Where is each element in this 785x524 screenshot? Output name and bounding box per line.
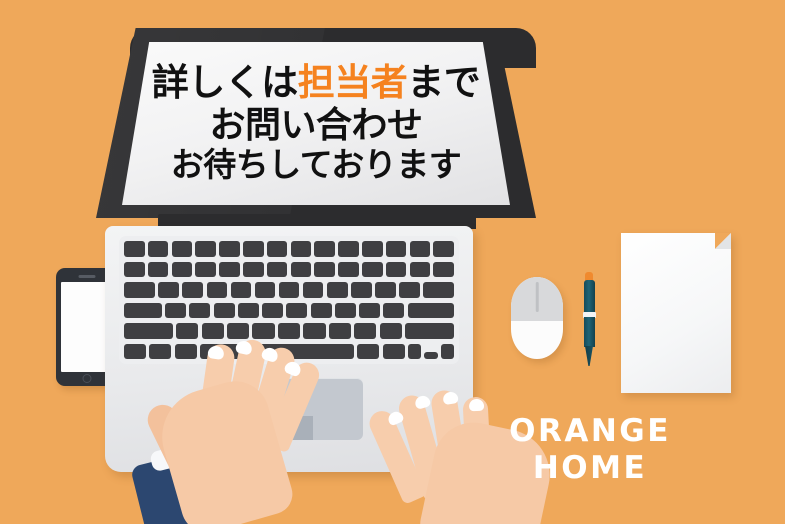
pen-tip: [585, 346, 593, 366]
headline-line-1-suffix: まで: [407, 61, 480, 104]
key[interactable]: [362, 241, 383, 257]
key[interactable]: [202, 323, 224, 339]
key[interactable]: [286, 303, 307, 319]
key[interactable]: [252, 323, 274, 339]
key[interactable]: [243, 262, 264, 278]
key[interactable]: [380, 323, 402, 339]
key[interactable]: [386, 262, 407, 278]
banner-canvas: 詳しくは担当者まで お問い合わせ お待ちしております: [0, 0, 785, 524]
key[interactable]: [278, 323, 300, 339]
key-arrow-up[interactable]: [424, 352, 437, 359]
paper-sheet: [621, 233, 731, 393]
key[interactable]: [195, 262, 216, 278]
key[interactable]: [267, 241, 288, 257]
keyboard-row: [124, 262, 454, 278]
key-cmd-right[interactable]: [357, 344, 379, 360]
key[interactable]: [303, 282, 324, 298]
key[interactable]: [207, 282, 228, 298]
key[interactable]: [219, 241, 240, 257]
key[interactable]: [219, 262, 240, 278]
key-arrow-left[interactable]: [408, 344, 421, 360]
headline-line-1-prefix: 詳しくは: [152, 61, 298, 104]
key-shift-right[interactable]: [405, 323, 454, 339]
key[interactable]: [335, 303, 356, 319]
key[interactable]: [329, 323, 351, 339]
key[interactable]: [338, 262, 359, 278]
keyboard-row: [124, 282, 454, 298]
key[interactable]: [303, 323, 325, 339]
laptop-lid-corner-right: [490, 28, 536, 68]
key[interactable]: [279, 282, 300, 298]
key-backslash[interactable]: [423, 282, 454, 298]
keyboard-row: [124, 303, 454, 319]
keyboard-row: [124, 323, 454, 339]
headline-line-1: 詳しくは担当者まで: [152, 64, 481, 102]
key[interactable]: [433, 241, 454, 257]
key-ctrl[interactable]: [124, 344, 146, 360]
key[interactable]: [375, 282, 396, 298]
brand-line-2: HOME: [500, 450, 680, 487]
key[interactable]: [383, 303, 404, 319]
key[interactable]: [148, 241, 169, 257]
key[interactable]: [314, 262, 335, 278]
key[interactable]: [311, 303, 332, 319]
fingernail: [469, 399, 485, 412]
key[interactable]: [386, 241, 407, 257]
key-capslock[interactable]: [124, 303, 162, 319]
key[interactable]: [148, 262, 169, 278]
key[interactable]: [158, 282, 179, 298]
key[interactable]: [231, 282, 252, 298]
key[interactable]: [314, 241, 335, 257]
key[interactable]: [399, 282, 420, 298]
key[interactable]: [433, 262, 454, 278]
key[interactable]: [214, 303, 235, 319]
key[interactable]: [172, 262, 193, 278]
computer-mouse: [511, 277, 563, 359]
key[interactable]: [243, 241, 264, 257]
key[interactable]: [410, 262, 431, 278]
headline-highlight: 担当者: [298, 61, 408, 104]
key[interactable]: [354, 323, 376, 339]
key[interactable]: [124, 262, 145, 278]
key-shift-left[interactable]: [124, 323, 173, 339]
brand-line-1: ORANGE: [500, 413, 680, 450]
key[interactable]: [182, 282, 203, 298]
key[interactable]: [195, 241, 216, 257]
key[interactable]: [359, 303, 380, 319]
left-hand: [150, 338, 325, 524]
key-alt-right[interactable]: [383, 344, 405, 360]
pen-lower-barrel: [584, 317, 595, 347]
key-arrow-right[interactable]: [441, 344, 454, 360]
key[interactable]: [267, 262, 288, 278]
key[interactable]: [189, 303, 210, 319]
mouse-scroll-wheel-icon: [536, 282, 539, 312]
brand-wordmark: ORANGE HOME: [500, 413, 680, 486]
key-enter[interactable]: [408, 303, 454, 319]
key[interactable]: [255, 282, 276, 298]
key[interactable]: [362, 262, 383, 278]
keyboard-row: [124, 241, 454, 257]
key-tab[interactable]: [124, 282, 155, 298]
key[interactable]: [338, 241, 359, 257]
ballpoint-pen: [581, 272, 597, 366]
key[interactable]: [410, 241, 431, 257]
key[interactable]: [176, 323, 198, 339]
headline-line-2: お問い合わせ: [209, 107, 422, 144]
key[interactable]: [124, 241, 145, 257]
key[interactable]: [227, 323, 249, 339]
key[interactable]: [238, 303, 259, 319]
key[interactable]: [291, 241, 312, 257]
key[interactable]: [291, 262, 312, 278]
headline-line-3: お待ちしております: [171, 148, 462, 182]
key[interactable]: [172, 241, 193, 257]
key[interactable]: [327, 282, 348, 298]
key[interactable]: [262, 303, 283, 319]
key[interactable]: [351, 282, 372, 298]
key[interactable]: [165, 303, 186, 319]
laptop-screen: 詳しくは担当者まで お問い合わせ お待ちしております: [122, 42, 510, 205]
